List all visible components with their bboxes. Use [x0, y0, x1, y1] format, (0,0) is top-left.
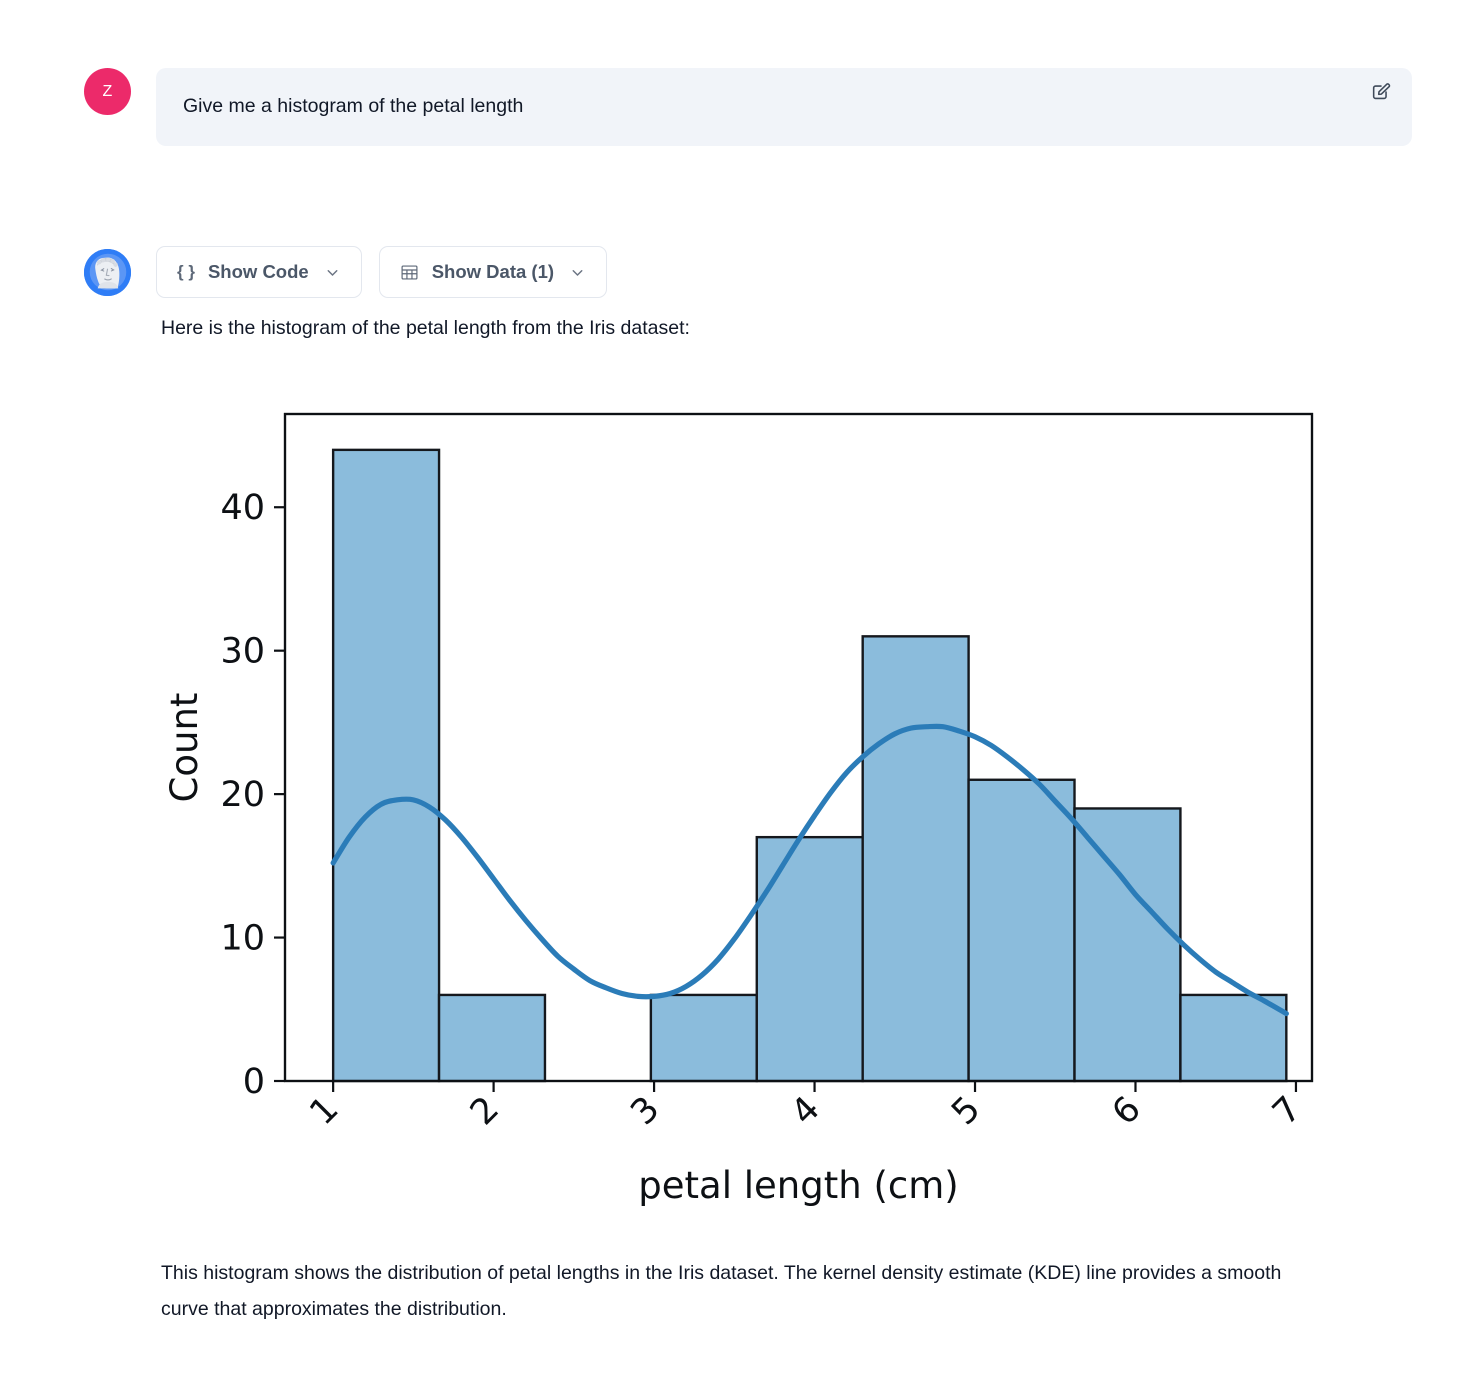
user-message-row: Z Give me a histogram of the petal lengt… — [84, 68, 1412, 146]
assistant-closing-text: This histogram shows the distribution of… — [161, 1255, 1326, 1327]
user-avatar-initial: Z — [103, 83, 113, 101]
y-tick-label: 10 — [220, 919, 265, 959]
histogram-bar — [651, 995, 757, 1081]
show-code-button[interactable]: { } Show Code — [156, 246, 362, 298]
assistant-toolbar-row: { } Show Code Show Data (1) — [84, 246, 1414, 298]
petal-length-histogram: 010203040Count1234567petal length (cm) — [150, 372, 1350, 1212]
user-message-text: Give me a histogram of the petal length — [183, 92, 1352, 120]
histogram-bar — [1180, 995, 1286, 1081]
histogram-bar — [969, 780, 1075, 1081]
y-tick-label: 30 — [220, 632, 265, 672]
assistant-avatar — [84, 249, 131, 296]
chevron-down-icon — [569, 264, 586, 281]
show-code-label: Show Code — [208, 263, 309, 282]
user-message-bubble: Give me a histogram of the petal length — [156, 68, 1412, 146]
conversation-page: Z Give me a histogram of the petal lengt… — [0, 0, 1480, 1390]
edit-pencil-square-icon[interactable] — [1370, 81, 1392, 103]
histogram-bar — [1075, 808, 1181, 1081]
histogram-figure: 010203040Count1234567petal length (cm) — [150, 372, 1350, 1212]
y-tick-label: 40 — [220, 488, 265, 528]
y-axis-label: Count — [163, 693, 206, 803]
user-avatar: Z — [84, 68, 131, 115]
histogram-bar — [863, 636, 969, 1081]
classical-bust-icon — [85, 250, 130, 295]
x-axis-label: petal length (cm) — [638, 1164, 958, 1207]
show-data-label: Show Data (1) — [432, 263, 554, 282]
histogram-bar — [333, 450, 439, 1081]
table-grid-icon — [400, 263, 419, 282]
show-data-button[interactable]: Show Data (1) — [379, 246, 607, 298]
assistant-toolbar: { } Show Code Show Data (1) — [156, 246, 607, 298]
code-braces-icon: { } — [177, 262, 195, 282]
y-tick-label: 0 — [243, 1062, 265, 1102]
assistant-message-row: { } Show Code Show Data (1) — [84, 246, 1414, 298]
y-tick-label: 20 — [220, 775, 265, 815]
assistant-intro-text: Here is the histogram of the petal lengt… — [161, 314, 690, 342]
histogram-bar — [439, 995, 545, 1081]
chevron-down-icon — [324, 264, 341, 281]
histogram-bar — [757, 837, 863, 1081]
